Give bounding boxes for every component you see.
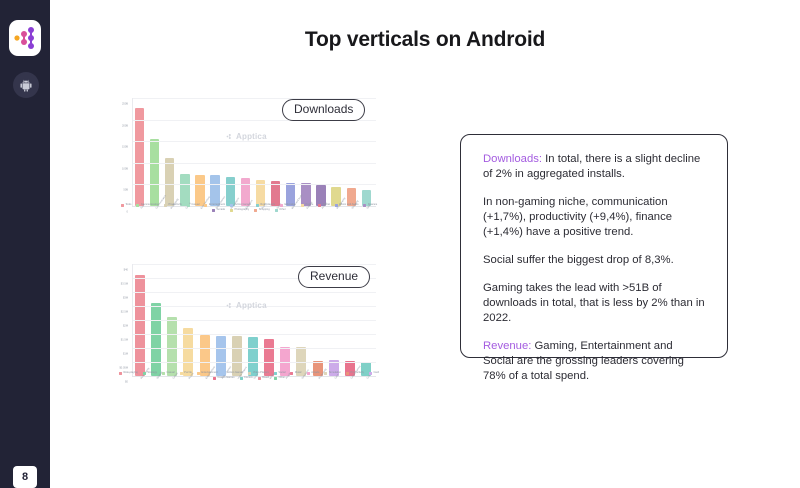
- insight-social: Social suffer the biggest drop of 8,3%.: [483, 253, 705, 268]
- legend-swatch: [335, 204, 338, 207]
- legend-item[interactable]: Puzzle: [180, 372, 192, 375]
- legend-item[interactable]: Productivity: [346, 372, 364, 375]
- apptica-logo-icon[interactable]: [9, 20, 41, 56]
- legend-item[interactable]: Comics: [240, 377, 253, 380]
- legend-item[interactable]: Other: [274, 377, 285, 380]
- legend-label: Entertainment: [209, 204, 225, 207]
- sidebar: 8: [0, 0, 50, 488]
- legend-swatch: [240, 377, 243, 380]
- legend-item[interactable]: Social: [318, 204, 330, 207]
- insight-downloads-keyword: Downloads:: [483, 153, 542, 165]
- legend-item[interactable]: Photography: [230, 209, 249, 212]
- y-axis-tick: 100B: [122, 167, 128, 170]
- legend-swatch: [197, 372, 200, 375]
- legend-item[interactable]: Finance: [363, 204, 377, 207]
- gridline: [132, 320, 376, 321]
- insight-downloads: Downloads: In total, there is a slight d…: [483, 152, 705, 182]
- legend-swatch: [274, 377, 277, 380]
- legend-label: Music and Audio: [339, 204, 358, 207]
- legend-label: Action Games: [227, 372, 243, 375]
- gridline: [132, 184, 376, 185]
- legend-swatch: [256, 204, 259, 207]
- legend-label: Role-playing: [123, 372, 137, 375]
- legend-swatch: [324, 372, 327, 375]
- legend-label: Social: [323, 204, 330, 207]
- legend-item[interactable]: Other: [275, 209, 286, 212]
- legend-item[interactable]: Entertainment: [204, 204, 225, 207]
- legend-label: Shopping: [259, 209, 270, 212]
- legend-swatch: [307, 372, 310, 375]
- legend-swatch: [363, 204, 366, 207]
- gridline: [132, 292, 376, 293]
- legend-swatch: [346, 372, 349, 375]
- legend-swatch: [212, 209, 215, 212]
- legend-item[interactable]: Role-playing: [119, 372, 138, 375]
- apptica-watermark-icon: [226, 302, 233, 309]
- bar[interactable]: [183, 328, 193, 376]
- legend-swatch: [301, 204, 304, 207]
- legend-swatch: [248, 372, 251, 375]
- watermark-downloads: Apptica: [226, 132, 267, 141]
- legend-item[interactable]: Casual: [187, 204, 200, 207]
- legend-item[interactable]: Communication: [136, 204, 159, 207]
- insight-revenue-keyword: Revenue:: [483, 340, 531, 352]
- legend-item[interactable]: Action Games: [223, 372, 244, 375]
- y-axis-tick: 200B: [122, 124, 128, 127]
- legend-swatch: [136, 204, 139, 207]
- bar[interactable]: [167, 317, 177, 376]
- legend-label: Strategy: [147, 372, 157, 375]
- insight-nongaming: In non-gaming niche, communication (+1,7…: [483, 195, 705, 240]
- legend-label: Arcade: [217, 209, 225, 212]
- legend-swatch: [290, 372, 293, 375]
- y-axis-tick: $3M: [123, 297, 128, 300]
- bar[interactable]: [135, 108, 144, 206]
- legend-label: Puzzle: [184, 372, 192, 375]
- legend-item[interactable]: Action Games: [230, 204, 251, 207]
- y-axis-tick: $2.5M: [121, 311, 128, 314]
- bar[interactable]: [151, 303, 161, 376]
- apptica-watermark-icon: [226, 133, 233, 140]
- y-axis-tick: 50B: [123, 189, 128, 192]
- legend-item[interactable]: Puzzle: [301, 204, 313, 207]
- legend-item[interactable]: Arcade: [212, 209, 225, 212]
- legend-label: Role-players: [260, 204, 275, 207]
- legend-item[interactable]: Role-players: [256, 204, 275, 207]
- bar[interactable]: [135, 275, 145, 376]
- android-glyph: [19, 78, 33, 92]
- legend-label: Productivity: [351, 372, 364, 375]
- legend-label: Productivity: [168, 204, 181, 207]
- legend-item[interactable]: Social: [274, 372, 286, 375]
- watermark-label: Apptica: [236, 132, 267, 141]
- page-title: Top verticals on Android: [50, 28, 800, 52]
- legend-item[interactable]: Arcade: [307, 372, 320, 375]
- y-axis-tick: $0: [125, 381, 128, 384]
- legend-swatch: [204, 204, 207, 207]
- legend-label: Photography: [235, 209, 250, 212]
- legend-label: Board: [262, 377, 269, 380]
- chart-downloads-legend: ToolsCommunicationProductivityCasualEnte…: [112, 204, 386, 212]
- legend-item[interactable]: Shopping: [254, 209, 269, 212]
- legend-swatch: [230, 204, 233, 207]
- insights-panel: Downloads: In total, there is a slight d…: [460, 134, 728, 358]
- legend-label: Education: [284, 204, 296, 207]
- legend-item[interactable]: Productivity: [164, 204, 182, 207]
- legend-label: Tools: [125, 204, 131, 207]
- android-icon[interactable]: [13, 72, 39, 98]
- y-axis-tick: $40: [124, 269, 128, 272]
- legend-label: Video Players: [253, 372, 269, 375]
- watermark-label: Apptica: [236, 301, 267, 310]
- legend-swatch: [369, 372, 372, 375]
- legend-label: Simulation: [329, 372, 341, 375]
- y-axis-line: [132, 98, 133, 206]
- legend-label: Casino Games: [217, 377, 234, 380]
- chart-revenue-legend: Role-playingStrategyCasualPuzzleEntertai…: [112, 372, 386, 380]
- gridline: [132, 362, 376, 363]
- legend-item[interactable]: Music and Audio: [335, 204, 359, 207]
- legend-swatch: [162, 372, 165, 375]
- legend-swatch: [318, 204, 321, 207]
- y-axis-line: [132, 264, 133, 376]
- legend-label: Puzzle: [305, 204, 313, 207]
- legend-item[interactable]: Simulation: [324, 372, 341, 375]
- legend-swatch: [121, 204, 124, 207]
- y-axis-tick: $3.5M: [121, 283, 128, 286]
- legend-swatch: [143, 372, 146, 375]
- legend-label: Other: [279, 377, 286, 380]
- insight-revenue: Revenue: Gaming, Entertainment and Socia…: [483, 339, 705, 384]
- bar[interactable]: [150, 139, 159, 206]
- legend-swatch: [119, 372, 122, 375]
- legend-swatch: [275, 209, 278, 212]
- legend-item[interactable]: Video Players: [248, 372, 268, 375]
- legend-item[interactable]: Education: [280, 204, 296, 207]
- legend-label: Casual: [191, 204, 199, 207]
- legend-swatch: [274, 372, 277, 375]
- y-axis-tick: 150B: [122, 146, 128, 149]
- legend-label: Music: [295, 372, 302, 375]
- watermark-revenue: Apptica: [226, 301, 267, 310]
- legend-swatch: [258, 377, 261, 380]
- legend-swatch: [230, 209, 233, 212]
- insight-gaming: Gaming takes the lead with >51B of downl…: [483, 281, 705, 326]
- legend-swatch: [164, 204, 167, 207]
- logo-glyph: [13, 25, 37, 51]
- legend-item[interactable]: Tools: [121, 204, 132, 207]
- gridline: [132, 264, 376, 265]
- y-axis-tick: $0.05M: [119, 367, 128, 370]
- page-number-badge: 8: [13, 466, 37, 488]
- legend-swatch: [213, 377, 216, 380]
- legend-swatch: [187, 204, 190, 207]
- chart-downloads-badge: Downloads: [282, 99, 365, 121]
- bar[interactable]: [216, 336, 226, 376]
- legend-label: Entertainment: [201, 372, 217, 375]
- legend-label: Card: [373, 372, 379, 375]
- y-axis-tick: $1M: [123, 353, 128, 356]
- legend-label: Social: [278, 372, 285, 375]
- bar[interactable]: [165, 158, 174, 206]
- legend-item[interactable]: Strategy: [143, 372, 157, 375]
- gridline: [132, 348, 376, 349]
- y-axis-tick: $1.5M: [121, 339, 128, 342]
- legend-label: Other: [279, 209, 286, 212]
- legend-label: Action Games: [235, 204, 251, 207]
- legend-swatch: [280, 204, 283, 207]
- legend-item[interactable]: Music: [290, 372, 301, 375]
- legend-item[interactable]: Casual: [162, 372, 175, 375]
- legend-item[interactable]: Card: [369, 372, 379, 375]
- legend-swatch: [254, 209, 257, 212]
- gridline: [132, 334, 376, 335]
- legend-label: Communication: [141, 204, 159, 207]
- legend-label: Arcade: [311, 372, 319, 375]
- legend-swatch: [223, 372, 226, 375]
- y-axis-tick: 250B: [122, 103, 128, 106]
- legend-item[interactable]: Entertainment: [197, 372, 218, 375]
- legend-item[interactable]: Board: [258, 377, 269, 380]
- chart-revenue-badge: Revenue: [298, 266, 370, 288]
- legend-item[interactable]: Casino Games: [213, 377, 235, 380]
- gridline: [132, 163, 376, 164]
- legend-label: Casual: [167, 372, 175, 375]
- bar[interactable]: [200, 335, 210, 376]
- legend-swatch: [180, 372, 183, 375]
- legend-label: Finance: [368, 204, 377, 207]
- legend-label: Comics: [244, 377, 253, 380]
- y-axis-tick: $2M: [123, 325, 128, 328]
- gridline: [132, 141, 376, 142]
